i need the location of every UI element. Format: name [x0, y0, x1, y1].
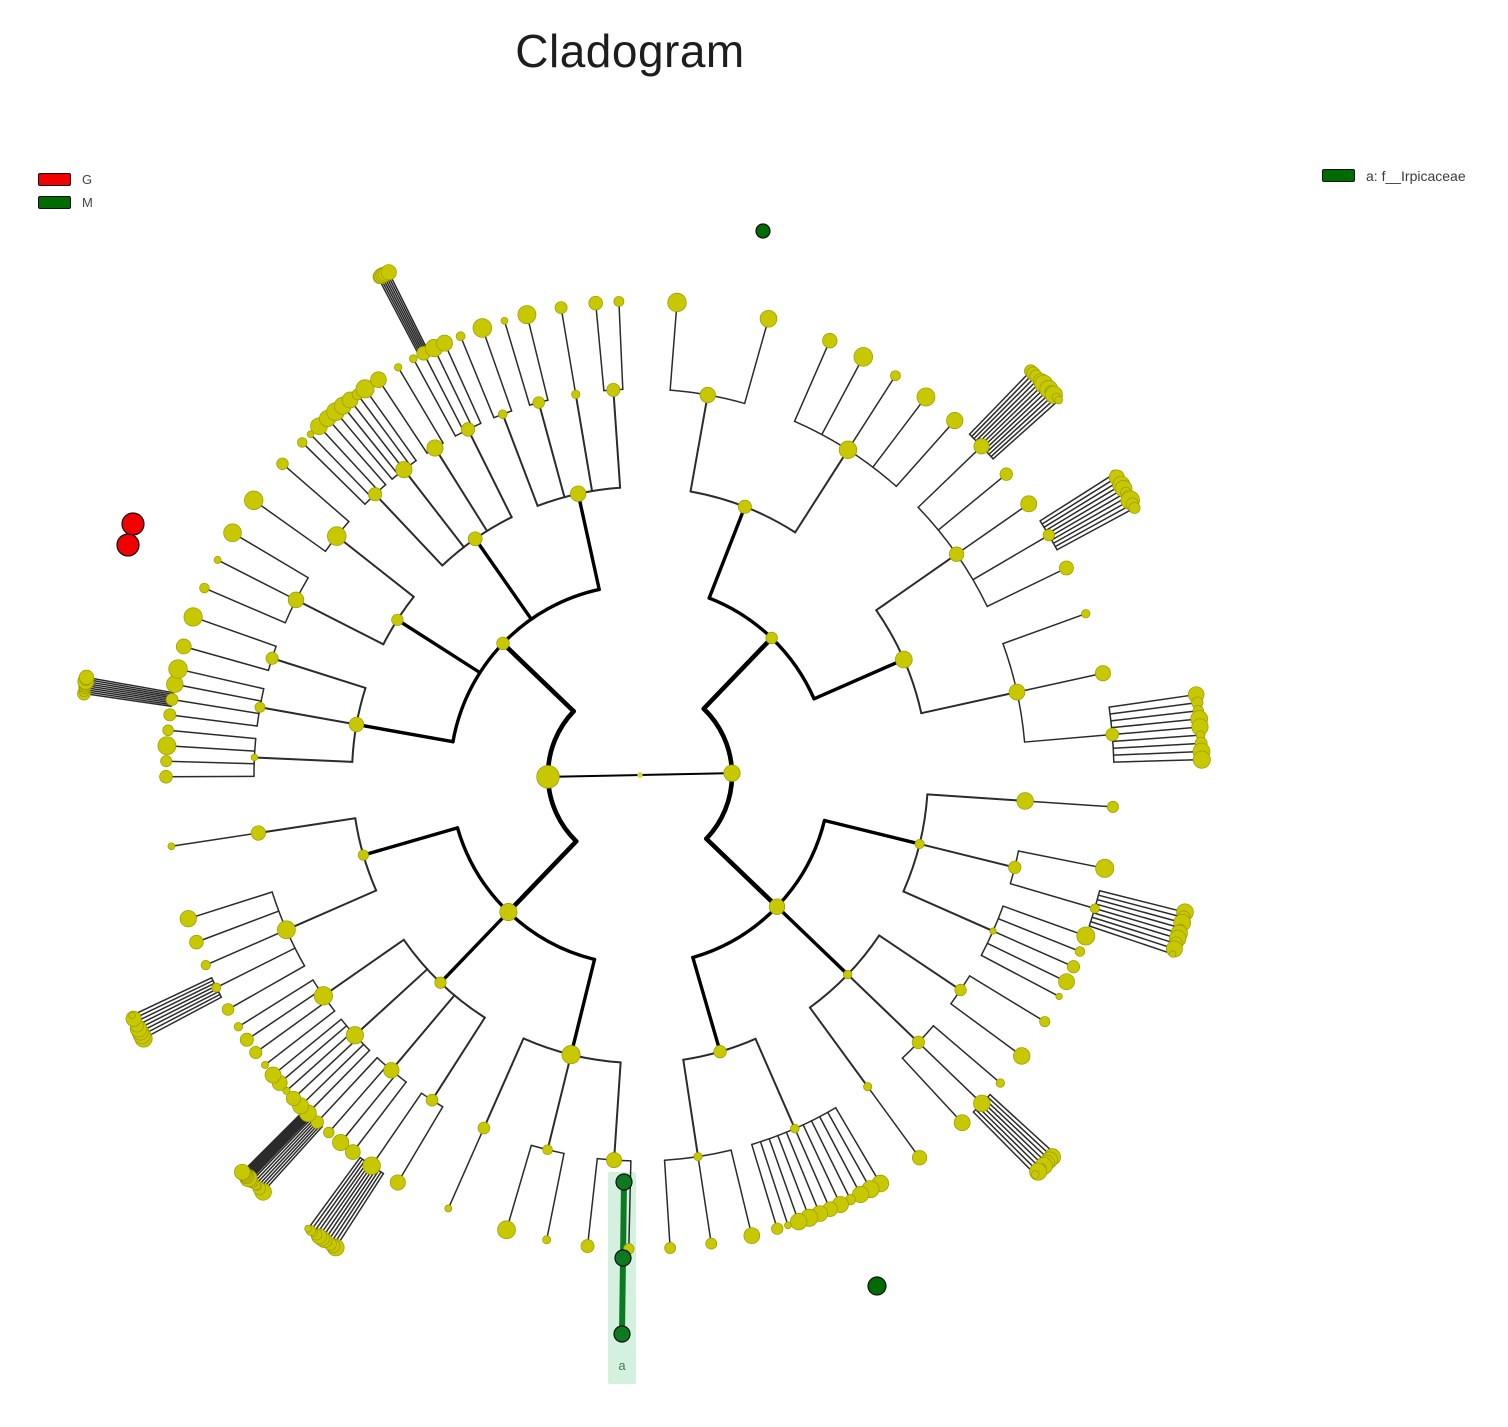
clade-marker-label-a: a: [618, 1358, 626, 1373]
tree-radial-edge: [391, 995, 454, 1070]
tree-radial-edge: [640, 773, 732, 775]
tree-radial-edge: [918, 1042, 981, 1103]
tree-internal-node[interactable]: [665, 1243, 676, 1254]
tree-radial-edge: [218, 560, 296, 600]
tree-radial-edge: [693, 958, 720, 1052]
tree-internal-node[interactable]: [589, 296, 603, 310]
tree-radial-edge: [1044, 481, 1119, 527]
tree-internal-node[interactable]: [190, 935, 204, 949]
tree-radial-edge: [389, 272, 428, 351]
tree-radial-edge: [175, 684, 261, 701]
tree-radial-edge: [973, 535, 1049, 580]
tree-internal-node[interactable]: [912, 1151, 927, 1166]
tree-radial-edge: [571, 959, 594, 1054]
tree-radial-edge: [1094, 913, 1178, 939]
tree-radial-edge: [547, 1153, 564, 1239]
tree-radial-edge: [171, 833, 258, 846]
tree-radial-edge: [228, 966, 304, 1010]
tree-internal-node[interactable]: [251, 754, 258, 761]
tree-radial-edge: [170, 715, 257, 726]
significant-node-m[interactable]: [756, 224, 770, 238]
tree-radial-edge: [434, 348, 472, 427]
tree-internal-node[interactable]: [497, 637, 510, 650]
tree-internal-node[interactable]: [766, 632, 778, 644]
tree-radial-edge: [822, 357, 863, 435]
tree-radial-edge: [920, 844, 1015, 867]
tree-internal-node[interactable]: [501, 317, 508, 324]
tree-internal-node[interactable]: [277, 921, 295, 939]
tree-internal-node[interactable]: [949, 547, 964, 562]
tree-internal-node[interactable]: [169, 660, 188, 679]
tree-radial-edge: [1099, 895, 1184, 917]
tree-radial-edge: [670, 302, 677, 390]
tree-internal-node[interactable]: [1107, 801, 1118, 812]
tree-radial-edge: [280, 1026, 347, 1083]
tree-internal-node[interactable]: [760, 310, 777, 327]
tree-radial-edge: [1113, 735, 1201, 741]
tree-radial-edge: [527, 315, 548, 400]
tree-internal-node[interactable]: [456, 332, 465, 341]
tree-radial-edge: [413, 359, 455, 436]
tree-radial-edge: [445, 343, 481, 423]
tree-internal-node[interactable]: [955, 984, 967, 996]
tree-internal-node[interactable]: [212, 983, 221, 992]
tree-radial-edge: [282, 464, 348, 522]
tree-internal-node[interactable]: [1021, 496, 1037, 512]
tree-internal-node[interactable]: [581, 1240, 594, 1253]
tree-radial-edge: [503, 643, 574, 711]
tree-internal-node[interactable]: [1075, 947, 1085, 957]
significant-node-m[interactable]: [615, 1250, 631, 1266]
significant-node-g[interactable]: [117, 534, 139, 556]
tree-internal-node[interactable]: [614, 296, 624, 306]
tree-internal-node[interactable]: [555, 302, 567, 314]
tree-radial-edge: [987, 943, 1066, 981]
tree-internal-node[interactable]: [785, 1222, 792, 1229]
tree-internal-node[interactable]: [166, 694, 178, 706]
tree-internal-node[interactable]: [384, 1063, 399, 1078]
tree-internal-node[interactable]: [250, 1046, 262, 1058]
tree-radial-edge: [475, 539, 531, 619]
tree-radial-edge: [848, 975, 919, 1043]
tree-internal-node[interactable]: [332, 1134, 348, 1150]
tree-radial-edge: [1025, 801, 1113, 807]
tree-radial-edge: [745, 319, 769, 404]
tree-internal-node[interactable]: [240, 1033, 253, 1046]
tree-radial-edge: [836, 1108, 881, 1184]
tree-radial-edge: [731, 1150, 752, 1236]
tree-radial-edge: [468, 429, 512, 517]
tree-radial-edge: [987, 568, 1066, 606]
tree-internal-node[interactable]: [200, 583, 210, 593]
tree-internal-node[interactable]: [1017, 793, 1034, 810]
tree-radial-edge: [918, 446, 981, 507]
tree-radial-edge: [868, 1087, 920, 1158]
tree-radial-edge: [254, 757, 352, 761]
tree-leaf-node[interactable]: [305, 1225, 312, 1232]
tree-internal-node[interactable]: [371, 372, 387, 388]
tree-radial-edge: [1097, 900, 1182, 923]
tree-radial-edge: [588, 1159, 598, 1246]
tree-radial-edge: [1010, 884, 1094, 909]
tree-radial-edge: [193, 617, 276, 646]
tree-radial-edge: [358, 394, 410, 465]
tree-internal-node[interactable]: [409, 355, 417, 363]
tree-radial-edge: [142, 994, 220, 1035]
tree-internal-node[interactable]: [461, 423, 475, 437]
tree-radial-edge: [382, 276, 422, 354]
tree-internal-node[interactable]: [251, 826, 265, 840]
tree-internal-node[interactable]: [738, 500, 751, 513]
tree-radial-edge: [355, 969, 427, 1035]
tree-radial-edge: [795, 341, 830, 422]
tree-radial-edge: [184, 647, 269, 671]
tree-internal-node[interactable]: [570, 486, 586, 502]
tree-radial-edge: [691, 395, 708, 491]
tree-radial-edge: [978, 381, 1041, 443]
tree-radial-edge: [824, 821, 919, 844]
tree-radial-edge: [596, 303, 604, 391]
tree-radial-edge: [323, 940, 403, 996]
clade-marker-layer: a: [618, 1358, 626, 1373]
tree-internal-node[interactable]: [790, 1124, 799, 1133]
tree-internal-node[interactable]: [234, 1022, 243, 1031]
tree-radial-edge: [273, 1019, 341, 1075]
tree-radial-edge: [432, 1018, 485, 1101]
tree-internal-node[interactable]: [396, 461, 412, 477]
tree-internal-node[interactable]: [1009, 684, 1025, 700]
tree-radial-edge: [548, 775, 640, 777]
tree-radial-edge: [363, 828, 457, 855]
tree-radial-edge: [484, 1038, 524, 1128]
tree-internal-node[interactable]: [533, 397, 545, 409]
tree-radial-edge: [507, 1145, 532, 1229]
significant-node-g[interactable]: [122, 513, 144, 535]
tree-internal-node[interactable]: [164, 709, 176, 721]
tree-radial-edge: [178, 669, 264, 689]
tree-internal-node[interactable]: [498, 410, 507, 419]
tree-internal-node[interactable]: [915, 839, 924, 848]
tree-radial-edge: [1114, 760, 1202, 762]
tree-internal-node[interactable]: [349, 717, 364, 732]
tree-root-node[interactable]: [637, 772, 642, 777]
tree-internal-node[interactable]: [500, 903, 517, 920]
tree-internal-node[interactable]: [769, 899, 785, 915]
tree-radial-edge: [356, 724, 452, 741]
tree-internal-node[interactable]: [327, 527, 346, 546]
tree-radial-edge: [810, 1008, 868, 1087]
tree-radial-edge: [561, 308, 576, 395]
tree-radial-edge: [1053, 500, 1130, 543]
tree-radial-edge: [985, 389, 1049, 449]
tree-leaf-node[interactable]: [1129, 502, 1140, 513]
tree-internal-node[interactable]: [163, 725, 174, 736]
tree-radial-edge: [1114, 752, 1202, 756]
tree-radial-edge: [795, 450, 848, 533]
tree-internal-node[interactable]: [890, 371, 900, 381]
tree-internal-node[interactable]: [771, 1223, 783, 1235]
tree-internal-node[interactable]: [166, 676, 183, 693]
tree-internal-node[interactable]: [1040, 1016, 1050, 1026]
tree-internal-node[interactable]: [435, 977, 446, 988]
clade-highlight-layer: [608, 1172, 636, 1384]
tree-internal-node[interactable]: [224, 524, 242, 542]
tree-internal-node[interactable]: [184, 608, 202, 626]
tree-internal-node[interactable]: [895, 651, 912, 668]
tree-radial-edge: [172, 699, 259, 713]
tree-radial-edge: [1113, 743, 1201, 748]
tree-radial-edge: [301, 1044, 364, 1105]
tree-radial-edge: [1048, 489, 1124, 534]
tree-radial-edge: [576, 394, 592, 491]
tree-radial-edge: [397, 620, 480, 673]
tree-internal-node[interactable]: [606, 1153, 621, 1168]
tree-radial-edge: [385, 274, 425, 352]
tree-radial-edge: [902, 1058, 962, 1123]
tree-internal-node[interactable]: [714, 1045, 727, 1058]
significant-node-m[interactable]: [614, 1326, 630, 1342]
tree-radial-edge: [139, 989, 218, 1029]
tree-internal-node[interactable]: [1043, 529, 1054, 540]
tree-leaf-node[interactable]: [1193, 751, 1210, 768]
tree-radial-edge: [508, 841, 576, 912]
tree-radial-edge: [993, 931, 1073, 967]
tree-internal-node[interactable]: [277, 458, 289, 470]
tree-internal-node[interactable]: [363, 1157, 381, 1175]
tree-radial-edge: [1018, 851, 1104, 868]
tree-internal-node[interactable]: [176, 639, 191, 654]
tree-radial-edge: [216, 948, 295, 987]
tree-internal-node[interactable]: [1096, 859, 1114, 877]
tree-radial-edge: [1042, 477, 1117, 524]
tree-leaf-node[interactable]: [1031, 1171, 1039, 1179]
cladogram-plot[interactable]: a: [0, 0, 1508, 1427]
tree-internal-node[interactable]: [297, 438, 307, 448]
tree-internal-node[interactable]: [572, 390, 580, 398]
tree-radial-edge: [132, 978, 212, 1016]
tree-internal-node[interactable]: [1106, 728, 1119, 741]
tree-radial-edge: [927, 794, 1025, 801]
tree-internal-node[interactable]: [700, 387, 715, 402]
tree-radial-edge: [998, 919, 1080, 952]
tree-radial-edge: [987, 392, 1051, 452]
tree-internal-node[interactable]: [996, 1079, 1005, 1088]
tree-radial-edge: [539, 403, 565, 498]
tree-internal-node[interactable]: [445, 1205, 452, 1212]
tree-radial-edge: [613, 390, 620, 488]
tree-internal-node[interactable]: [498, 1221, 516, 1239]
tree-internal-node[interactable]: [180, 910, 196, 926]
tree-radial-edge: [134, 981, 213, 1019]
tree-internal-node[interactable]: [973, 1095, 990, 1112]
tree-node-layer[interactable]: [77, 224, 1210, 1342]
tree-radial-edge: [319, 426, 379, 491]
tree-radial-edge: [383, 275, 423, 353]
tree-internal-node[interactable]: [1090, 904, 1099, 913]
tree-internal-node[interactable]: [478, 1122, 490, 1134]
tree-radial-edge: [980, 384, 1043, 445]
tree-leaf-node[interactable]: [234, 1164, 250, 1180]
tree-internal-node[interactable]: [426, 1094, 438, 1106]
tree-radial-edge: [876, 554, 956, 610]
tree-internal-node[interactable]: [724, 765, 740, 781]
tree-internal-node[interactable]: [543, 1145, 553, 1155]
tree-internal-node[interactable]: [346, 1027, 363, 1044]
tree-internal-node[interactable]: [1059, 974, 1075, 990]
tree-internal-node[interactable]: [394, 364, 402, 372]
tree-internal-node[interactable]: [473, 319, 492, 338]
tree-internal-node[interactable]: [1077, 927, 1095, 945]
tree-internal-node[interactable]: [314, 987, 332, 1005]
tree-radial-edge: [343, 406, 398, 475]
tree-radial-edge: [665, 1160, 671, 1248]
tree-radial-edge: [260, 707, 356, 724]
tree-radial-edge: [938, 474, 1006, 530]
tree-internal-node[interactable]: [912, 1036, 925, 1049]
tree-internal-node[interactable]: [323, 1127, 334, 1138]
tree-radial-edge: [233, 533, 309, 578]
tree-radial-edge: [921, 692, 1017, 713]
tree-internal-node[interactable]: [358, 850, 368, 860]
tree-radial-edge: [933, 1026, 1000, 1083]
tree-internal-node[interactable]: [390, 1175, 405, 1190]
tree-radial-edge: [848, 376, 895, 450]
tree-radial-edge: [1040, 474, 1114, 521]
tree-radial-edge: [828, 1112, 871, 1189]
tree-radial-edge: [683, 1060, 698, 1157]
tree-internal-node[interactable]: [947, 412, 963, 428]
tree-internal-node[interactable]: [160, 770, 173, 783]
tree-internal-node[interactable]: [518, 306, 536, 324]
tree-radial-edge: [752, 1144, 777, 1228]
tree-radial-edge: [1091, 922, 1175, 949]
tree-internal-node[interactable]: [1009, 861, 1022, 874]
tree-internal-node[interactable]: [668, 293, 687, 312]
tree-radial-edge: [350, 400, 404, 470]
tree-internal-node[interactable]: [839, 441, 857, 459]
tree-internal-node[interactable]: [562, 1045, 580, 1063]
tree-leaf-node[interactable]: [381, 265, 396, 280]
tree-internal-node[interactable]: [368, 488, 381, 501]
tree-radial-edge: [706, 839, 777, 907]
tree-internal-node[interactable]: [261, 1061, 268, 1068]
tree-radial-edge: [614, 1062, 621, 1160]
tree-internal-node[interactable]: [427, 440, 443, 456]
tree-internal-node[interactable]: [468, 532, 482, 546]
tree-radial-edge: [957, 504, 1029, 554]
tree-radial-edge: [976, 379, 1038, 441]
tree-radial-edge: [188, 892, 272, 919]
tree-radial-edge: [167, 746, 255, 751]
tree-internal-node[interactable]: [265, 1067, 281, 1083]
tree-internal-node[interactable]: [392, 614, 404, 626]
tree-internal-node[interactable]: [1095, 666, 1110, 681]
tree-internal-node[interactable]: [543, 1236, 551, 1244]
tree-internal-node[interactable]: [822, 333, 837, 348]
significant-node-m[interactable]: [868, 1277, 886, 1295]
tree-internal-node[interactable]: [694, 1152, 702, 1160]
tree-internal-node[interactable]: [222, 1004, 234, 1016]
tree-internal-node[interactable]: [954, 1115, 970, 1131]
tree-radial-edge: [286, 891, 376, 930]
tree-internal-node[interactable]: [158, 737, 176, 755]
tree-radial-edge: [777, 907, 848, 975]
tree-radial-edge: [258, 818, 355, 833]
tree-radial-edge: [254, 500, 326, 551]
tree-radial-edge: [206, 930, 287, 965]
tree-internal-node[interactable]: [1067, 961, 1079, 973]
tree-internal-node[interactable]: [990, 928, 996, 934]
tree-radial-edge: [814, 659, 904, 698]
tree-internal-node[interactable]: [1013, 1048, 1030, 1065]
tree-internal-node[interactable]: [854, 348, 873, 367]
tree-internal-node[interactable]: [201, 960, 210, 969]
tree-leaf-node[interactable]: [1169, 951, 1176, 958]
tree-radial-edge: [903, 891, 993, 931]
tree-radial-edge: [378, 278, 419, 356]
tree-radial-edge: [896, 421, 954, 487]
tree-internal-node[interactable]: [437, 335, 453, 351]
tree-radial-edge: [140, 992, 218, 1032]
tree-internal-node[interactable]: [790, 1213, 807, 1230]
tree-internal-node[interactable]: [161, 756, 172, 767]
tree-internal-node[interactable]: [864, 1083, 872, 1091]
tree-internal-node[interactable]: [843, 970, 852, 979]
tree-edge-layer: [84, 272, 1202, 1249]
tree-internal-node[interactable]: [288, 592, 304, 608]
tree-leaf-node[interactable]: [79, 670, 94, 685]
tree-radial-edge: [1025, 735, 1113, 743]
tree-radial-edge: [503, 414, 538, 506]
tree-radial-edge: [440, 912, 508, 983]
tree-radial-edge: [709, 507, 745, 598]
tree-radial-edge: [135, 983, 214, 1022]
tree-radial-edge: [873, 397, 926, 467]
tree-radial-edge: [387, 273, 427, 352]
tree-internal-node[interactable]: [1000, 468, 1013, 481]
tree-internal-node[interactable]: [1056, 993, 1062, 999]
tree-leaf-node[interactable]: [129, 1012, 135, 1018]
tree-radial-edge: [1109, 695, 1196, 708]
tree-internal-node[interactable]: [266, 652, 278, 664]
tree-internal-node[interactable]: [607, 383, 620, 396]
tree-leaf-node[interactable]: [1055, 396, 1063, 404]
tree-radial-edge: [196, 911, 278, 942]
tree-internal-node[interactable]: [917, 388, 935, 406]
tree-radial-edge: [811, 1121, 850, 1200]
tree-radial-edge: [296, 600, 383, 644]
tree-internal-node[interactable]: [214, 556, 221, 563]
tree-internal-node[interactable]: [1059, 561, 1073, 575]
tree-internal-node[interactable]: [168, 843, 175, 850]
tree-radial-edge: [328, 418, 386, 484]
tree-radial-edge: [803, 1125, 840, 1205]
tree-internal-node[interactable]: [974, 439, 989, 454]
tree-radial-edge: [756, 1039, 795, 1129]
tree-radial-edge: [619, 301, 623, 389]
tree-internal-node[interactable]: [1081, 609, 1090, 618]
tree-radial-edge: [983, 387, 1047, 448]
tree-radial-edge: [951, 1004, 1022, 1056]
tree-internal-node[interactable]: [706, 1238, 717, 1249]
tree-radial-edge: [1112, 727, 1200, 735]
tree-internal-node[interactable]: [537, 766, 560, 789]
tree-internal-node[interactable]: [744, 1228, 760, 1244]
tree-radial-edge: [1095, 908, 1179, 933]
tree-internal-node[interactable]: [244, 491, 263, 510]
significant-node-m[interactable]: [616, 1174, 632, 1190]
tree-internal-node[interactable]: [255, 702, 265, 712]
